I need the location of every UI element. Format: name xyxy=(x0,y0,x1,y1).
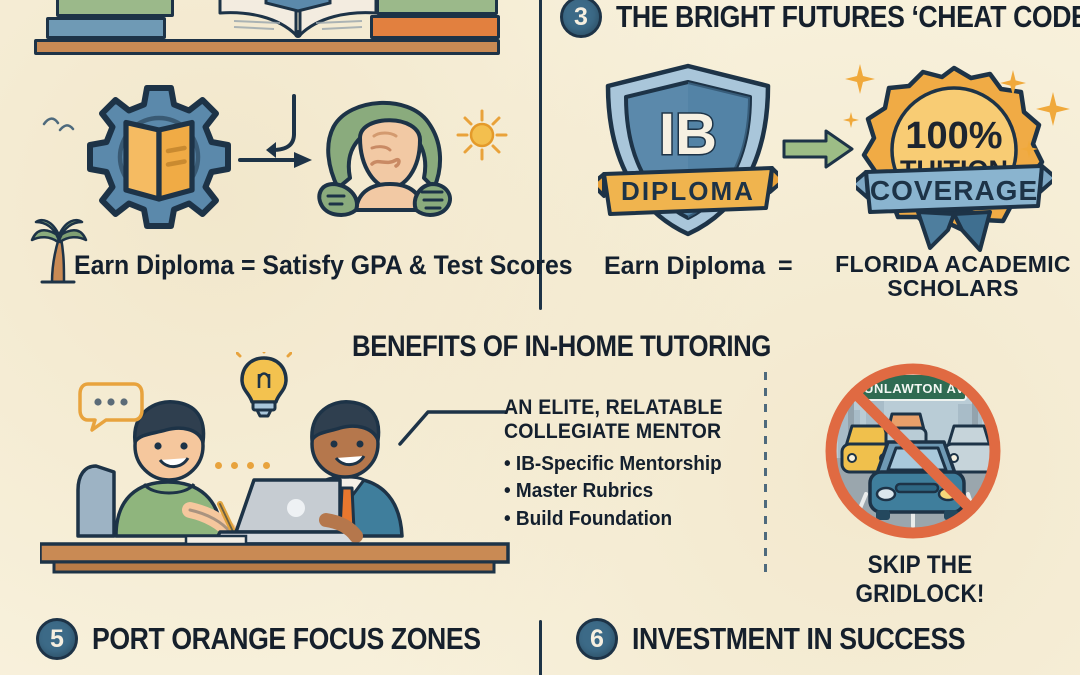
section-title-6: INVESTMENT IN SUCCESS xyxy=(632,621,965,657)
callout-bullet-1: • IB-Specific Mentorship xyxy=(504,451,751,479)
svg-text:100%: 100% xyxy=(905,115,1002,157)
sparkle-icon-2 xyxy=(1000,70,1026,96)
callout-title-line-1: AN ELITE, RELATABLE xyxy=(504,396,746,420)
section-number-badge-5: 5 xyxy=(36,618,78,660)
lightbulb-icon xyxy=(236,352,292,418)
section-number-badge-3: 3 xyxy=(560,0,602,38)
sparkle-icon-3 xyxy=(1036,92,1070,126)
callout-bullet-3-text: Build Foundation xyxy=(516,508,672,530)
shelf-board xyxy=(34,39,500,55)
svg-text:COVERAGE: COVERAGE xyxy=(870,175,1038,206)
fas-line-2: SCHOLARS xyxy=(828,276,1078,300)
diploma-equation-left: Earn Diploma xyxy=(604,252,765,281)
diploma-equation-equals: = xyxy=(778,252,793,281)
stressed-student-icon xyxy=(316,92,466,242)
sparkle-icon-4 xyxy=(1020,140,1038,158)
gridlock-illustration: DUNLAWTON AVE xyxy=(808,358,1018,549)
callout-title-line-2: COLLEGIATE MENTOR xyxy=(504,420,746,444)
section-header-5: 5 PORT ORANGE FOCUS ZONES xyxy=(36,618,544,660)
curved-arrow-icon xyxy=(232,90,312,200)
idea-dots xyxy=(215,462,270,469)
bookshelf-illustration xyxy=(18,0,518,55)
ib-diploma-shield: IB DIPLOMA xyxy=(598,62,778,245)
callout-bullet-2: • Master Rubrics xyxy=(504,478,751,506)
section-number-badge-6: 6 xyxy=(576,618,618,660)
green-right-arrow-icon xyxy=(782,128,854,170)
top-left-caption: Earn Diploma = Satisfy GPA & Test Scores xyxy=(74,250,616,281)
dot xyxy=(247,462,254,469)
skip-gridlock-caption: SKIP THE GRIDLOCK! xyxy=(812,551,1028,609)
svg-text:DIPLOMA: DIPLOMA xyxy=(621,176,755,206)
infographic-canvas: Earn Diploma = Satisfy GPA & Test Scores… xyxy=(0,0,1080,675)
dashed-divider-middle xyxy=(764,372,767,578)
sun-icon xyxy=(455,108,509,162)
bird-doodle-icon xyxy=(40,108,84,138)
book-in-gear-icon xyxy=(84,82,234,232)
benefits-title: BENEFITS OF IN-HOME TUTORING xyxy=(352,330,839,364)
diploma-equation-left-text: Earn Diploma xyxy=(604,252,765,281)
callout-leader-line xyxy=(398,398,508,448)
benefits-callout: AN ELITE, RELATABLE COLLEGIATE MENTOR • … xyxy=(504,396,764,534)
section-title-3: THE BRIGHT FUTURES ‘CHEAT CODE’ xyxy=(616,0,1080,35)
speech-bubble-icon xyxy=(78,380,144,432)
callout-bullet-3: • Build Foundation xyxy=(504,506,751,534)
dot xyxy=(215,462,222,469)
section-title-5: PORT ORANGE FOCUS ZONES xyxy=(92,621,481,657)
fas-line-1: FLORIDA ACADEMIC xyxy=(828,252,1078,276)
callout-bullet-2-text: Master Rubrics xyxy=(516,480,653,502)
dot xyxy=(263,462,270,469)
book-blue-1 xyxy=(46,17,166,39)
book-orange-2 xyxy=(370,15,500,39)
section-header-3: 3 THE BRIGHT FUTURES ‘CHEAT CODE’ xyxy=(560,0,1080,38)
top-left-caption-text: Earn Diploma = Satisfy GPA & Test Scores xyxy=(74,250,573,281)
svg-text:IB: IB xyxy=(659,102,717,167)
section-header-6: 6 INVESTMENT IN SUCCESS xyxy=(576,618,1019,660)
sparkle-icon-5 xyxy=(843,112,859,128)
book-green-2 xyxy=(376,0,498,15)
book-green-1 xyxy=(56,0,174,17)
benefits-title-text: BENEFITS OF IN-HOME TUTORING xyxy=(352,330,771,364)
right-arrow-icon xyxy=(236,146,322,174)
callout-bullet-1-text: IB-Specific Mentorship xyxy=(516,453,722,475)
sparkle-icon-1 xyxy=(845,64,875,94)
open-book-icon xyxy=(208,0,388,39)
dot xyxy=(231,462,238,469)
diploma-equation-equals-text: = xyxy=(778,252,793,281)
diploma-equation-right: FLORIDA ACADEMIC SCHOLARS xyxy=(828,252,1078,301)
